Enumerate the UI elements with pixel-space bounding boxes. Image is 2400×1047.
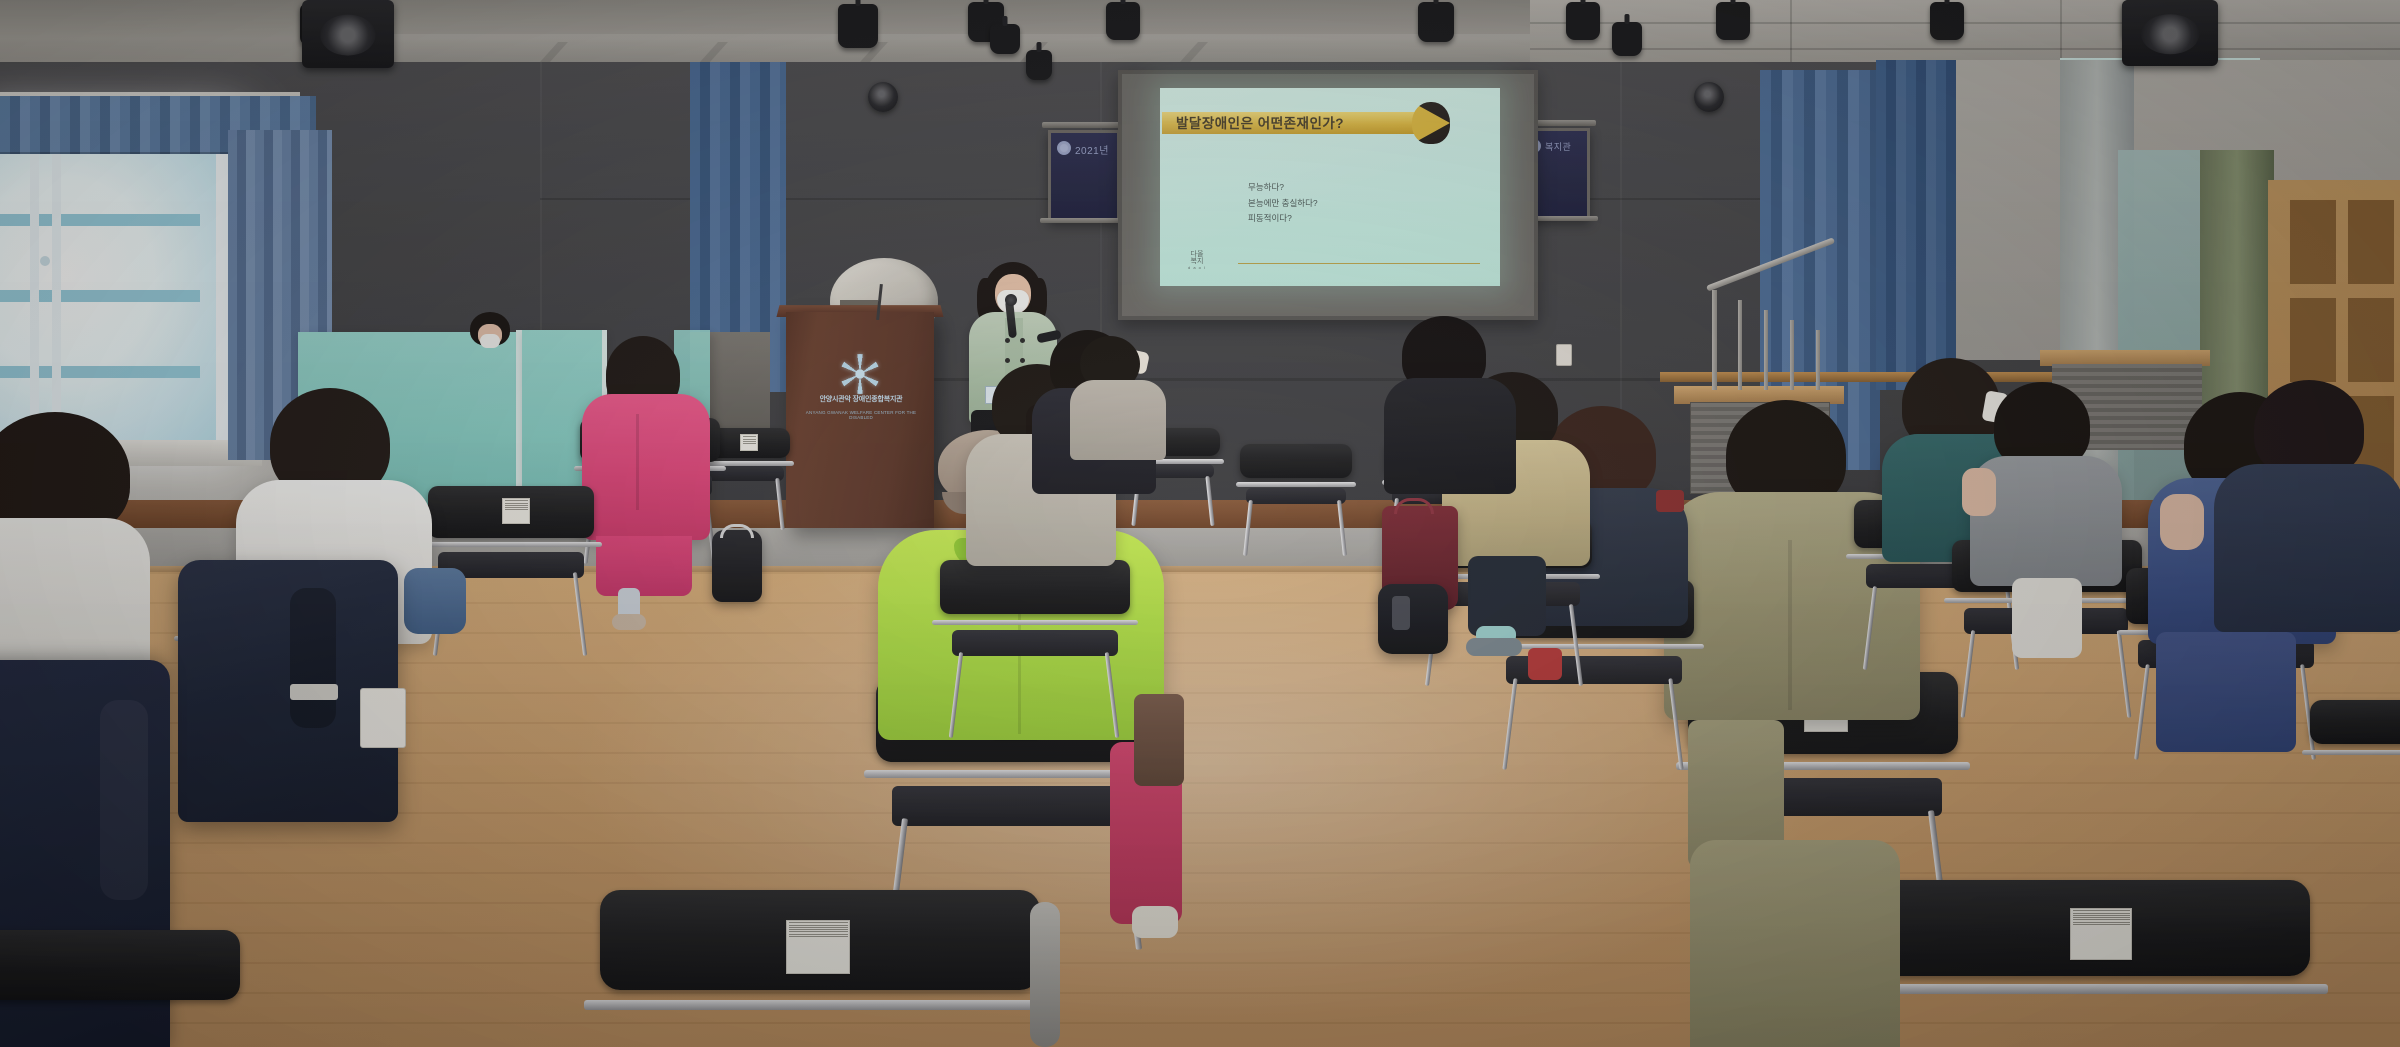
railing-post [1764, 310, 1768, 390]
spotlight-icon [1106, 2, 1140, 40]
chair-armrest-post [1030, 902, 1060, 1047]
coat-strap [290, 684, 338, 700]
railing-post [1738, 300, 1742, 390]
coat-fold [290, 588, 336, 728]
red-object [1528, 648, 1562, 680]
attendee-bottom-right-olive [1690, 840, 1900, 1047]
chair[interactable] [940, 560, 1130, 740]
mask [480, 334, 500, 348]
podium [786, 312, 934, 528]
spotlight-icon [1566, 2, 1600, 40]
banner-rod [1042, 122, 1126, 128]
railing-post [1790, 320, 1794, 390]
red-object [1656, 490, 1684, 512]
shelf-cell [2348, 298, 2394, 382]
light-trousers [2012, 578, 2082, 658]
coat-highlight [100, 700, 148, 900]
chair[interactable] [1880, 880, 2310, 1047]
chair[interactable] [1240, 444, 1352, 562]
wall-speaker-icon [302, 0, 394, 68]
window-frame [52, 140, 61, 440]
podium-org-sub: ANYANG GWANAK WELFARE CENTER FOR THE DIS… [800, 410, 922, 420]
banner-left: 2021년 [1048, 130, 1120, 222]
slide-logo: 다올 복지 d a o l [1188, 251, 1206, 270]
wall-outlet-icon[interactable] [1556, 344, 1572, 366]
blazer-button [1005, 338, 1010, 343]
hand [2160, 494, 2204, 550]
shelf-cell [2290, 200, 2336, 284]
spotlight-icon [1612, 22, 1642, 56]
slide-rule [1238, 263, 1480, 265]
trousers [2156, 632, 2296, 752]
spotlight-icon [1418, 2, 1454, 42]
round-speaker-icon [868, 82, 898, 112]
stage-curtain-far-right [1876, 60, 1956, 390]
spotlight-icon [838, 4, 878, 48]
spotlight-icon [990, 24, 1020, 54]
ceiling-tile-line [1790, 0, 1792, 70]
podium-org-name: 안양시관악 장애인종합복지관 [800, 396, 922, 405]
window-latch-icon [40, 256, 50, 266]
pink-coat [582, 394, 710, 540]
handout-paper [360, 688, 406, 748]
ceiling-tile-line [1530, 48, 2400, 50]
banner-right-text: 복지관 [1545, 140, 1571, 153]
hand [1962, 468, 1996, 516]
railing-post [1816, 330, 1820, 390]
chair[interactable] [2310, 700, 2400, 820]
stair-railing [1706, 286, 1838, 390]
jeans [404, 568, 466, 634]
podium-logo-icon [840, 354, 880, 394]
banner-logo-icon [1057, 141, 1071, 155]
black-coat [1384, 378, 1516, 494]
projection-slide: 발달장애인은 어떤존재인가? 무능하다? 본능에만 충실하다? 피동적이다? 다… [1160, 88, 1500, 286]
spotlight-icon [1930, 2, 1964, 40]
banner-left-text: 2021년 [1075, 142, 1109, 157]
dark-top [2214, 464, 2400, 632]
blazer-button [1020, 338, 1025, 343]
window-frame [30, 140, 39, 440]
wall-speaker-icon [2122, 0, 2218, 66]
coat-seam [1788, 540, 1792, 710]
slide-bullet-1: 무능하다? [1248, 180, 1318, 196]
slide-title: 발달장애인은 어떤존재인가? [1176, 112, 1426, 132]
microphone-head-icon [1005, 294, 1017, 306]
black-backpack[interactable] [712, 530, 762, 602]
spotlight-icon [1026, 50, 1052, 80]
round-speaker-icon [1694, 82, 1724, 112]
shelf-cell [2348, 200, 2394, 284]
ceiling-tile-line [1530, 22, 2400, 24]
banner-rod [1040, 218, 1128, 223]
spotlight-icon [1716, 2, 1750, 40]
shoe [1466, 638, 1522, 656]
slide-bullets: 무능하다? 본능에만 충실하다? 피동적이다? [1248, 180, 1318, 227]
shoe [1132, 906, 1178, 938]
railing-post [1712, 290, 1717, 390]
trousers [1468, 556, 1546, 636]
chair[interactable] [600, 890, 1040, 1047]
bag-strap [1392, 596, 1410, 630]
shoe [612, 614, 646, 630]
slide-bullet-2: 본능에만 충실하다? [1248, 196, 1318, 212]
slide-logo-sub: d a o l [1188, 266, 1206, 270]
coat-skirt [596, 536, 692, 596]
slide-bullet-3: 피동적이다? [1248, 211, 1318, 227]
black-shoulder-bag[interactable] [1378, 584, 1448, 654]
lecture-hall-photo: 2021년 복지관 발달장애인은 어떤존재인가? 무능하다? 본능에만 충실하다… [0, 0, 2400, 1047]
shelf-cell [2290, 298, 2336, 382]
blazer-button [1020, 358, 1025, 363]
brown-tote-bag[interactable] [1134, 694, 1184, 786]
chair[interactable] [0, 930, 240, 1047]
beige-top [1070, 380, 1166, 460]
blazer-button [1005, 358, 1010, 363]
coat-seam [636, 414, 639, 510]
